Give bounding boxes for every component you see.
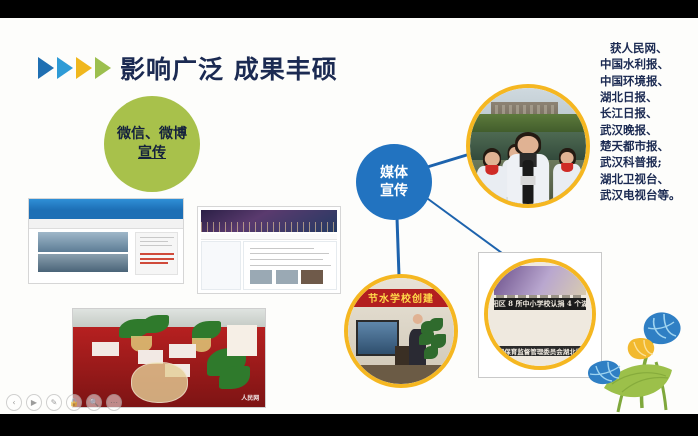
screenshot-gov-site[interactable] — [28, 198, 184, 284]
lotus-decoration — [582, 296, 698, 414]
more-icon-glyph: ⋯ — [110, 398, 118, 407]
newspaper-headline: 汉阳区 8 所中小学校认捐 4 个湖泊 — [494, 298, 586, 309]
screenshot-weibo-site[interactable] — [197, 206, 341, 294]
newspaper-footer: 中国保育监督管理委员会湖北监督 — [494, 346, 586, 355]
conference-banner-text: 节水学校创建 — [348, 289, 454, 307]
pen-icon-glyph: ✎ — [51, 398, 58, 407]
more-icon[interactable]: ⋯ — [106, 394, 122, 411]
lock-icon-glyph: 🔒 — [69, 398, 79, 407]
search-icon-glyph: 🔍 — [89, 398, 99, 407]
node-media-promotion-line1: 媒体 — [380, 164, 408, 182]
watermark-logo: 人民网 — [241, 393, 259, 402]
presentation-slide: 影响广泛 成果丰硕 微信、微博 宣传 媒体 宣传 获人民网、 中国水利报、 中国… — [0, 18, 698, 414]
letterbox-bottom — [0, 414, 698, 436]
photo-student-interview-image — [470, 88, 586, 204]
node-media-promotion[interactable]: 媒体 宣传 — [356, 144, 432, 220]
play-icon[interactable]: ▶ — [26, 394, 42, 411]
letterbox-top — [0, 0, 698, 18]
lock-icon[interactable]: 🔒 — [66, 394, 82, 411]
pen-icon[interactable]: ✎ — [46, 394, 62, 411]
search-icon[interactable]: 🔍 — [86, 394, 102, 411]
node-media-promotion-line2: 宣传 — [380, 182, 408, 200]
photo-student-interview[interactable] — [466, 84, 590, 208]
play-icon-glyph: ▶ — [31, 398, 37, 407]
plant-decor — [418, 318, 450, 371]
photo-newspaper-image: 汉阳区 8 所中小学校认捐 4 个湖泊 中国保育监督管理委员会湖北监督 — [488, 262, 592, 366]
photo-newspaper-clipping[interactable]: 汉阳区 8 所中小学校认捐 4 个湖泊 中国保育监督管理委员会湖北监督 — [484, 258, 596, 370]
slide-viewer: 影响广泛 成果丰硕 微信、微博 宣传 媒体 宣传 获人民网、 中国水利报、 中国… — [0, 0, 698, 436]
photo-conference-room[interactable]: 节水学校创建 — [344, 274, 458, 388]
back-icon-glyph: ‹ — [12, 398, 15, 407]
back-icon[interactable]: ‹ — [6, 394, 22, 411]
viewer-toolbar[interactable]: ‹ ▶ ✎ 🔒 🔍 ⋯ — [6, 392, 122, 412]
photo-conference-room-image: 节水学校创建 — [348, 278, 454, 384]
